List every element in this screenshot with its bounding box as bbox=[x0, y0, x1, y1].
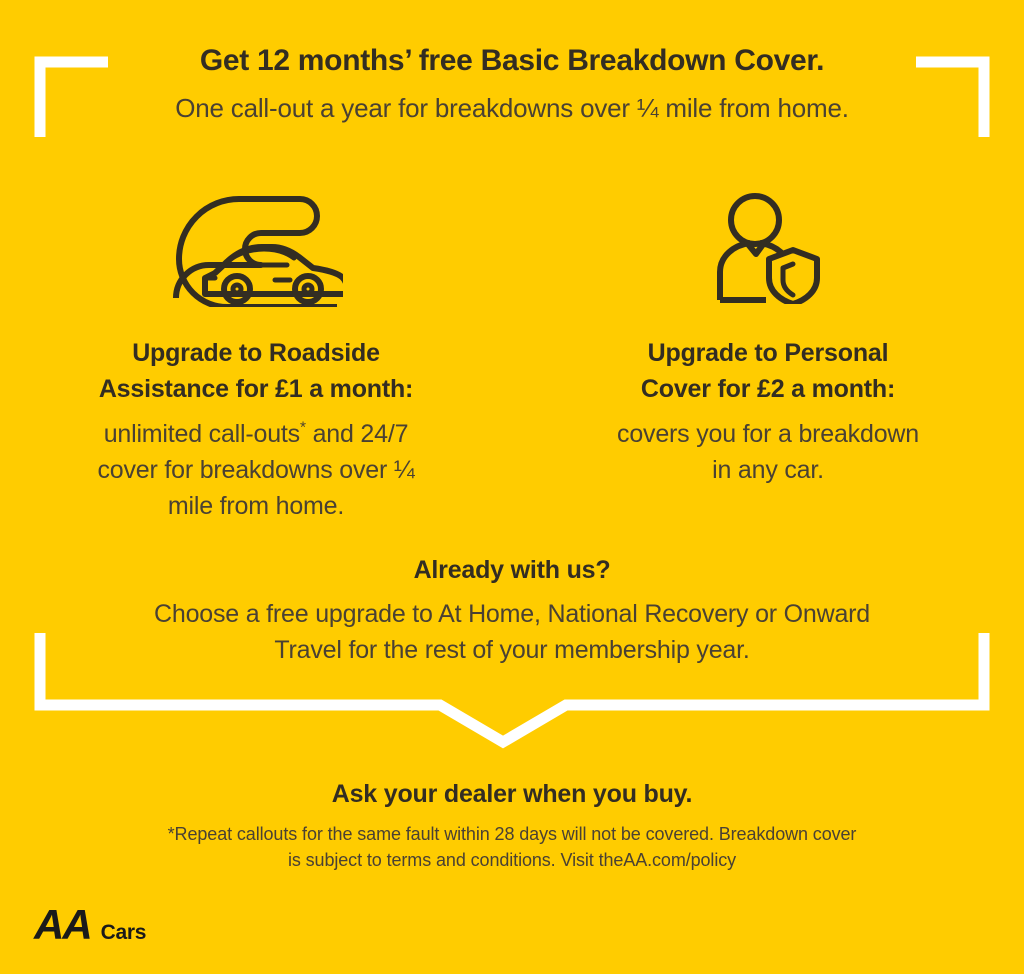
already-member-title: Already with us? bbox=[0, 556, 1024, 585]
smallprint-line2: is subject to terms and conditions. Visi… bbox=[288, 850, 736, 870]
upgrade-roadside-title: Upgrade to Roadside Assistance for £1 a … bbox=[40, 336, 472, 407]
upgrade-personal-title: Upgrade to Personal Cover for £2 a month… bbox=[552, 336, 984, 407]
upgrade-columns: Upgrade to Roadside Assistance for £1 a … bbox=[0, 185, 1024, 524]
aa-logo-mark: AA bbox=[34, 906, 91, 945]
smallprint-text: *Repeat callouts for the same fault with… bbox=[0, 821, 1024, 873]
aa-cars-logo: AA Cars bbox=[34, 906, 146, 945]
footer-block: Ask your dealer when you buy. *Repeat ca… bbox=[0, 780, 1024, 873]
upgrade-roadside-body-line1-rest: and 24/7 bbox=[306, 420, 408, 448]
page-subtitle: One call-out a year for breakdowns over … bbox=[0, 92, 1024, 126]
upgrade-roadside-body-line1: unlimited call-outs bbox=[104, 420, 300, 448]
upgrade-roadside-title-line1: Upgrade to Roadside bbox=[132, 339, 380, 367]
header-block: Get 12 months’ free Basic Breakdown Cove… bbox=[0, 42, 1024, 126]
upgrade-personal-body-line1: covers you for a breakdown bbox=[617, 420, 919, 448]
smallprint-line1: *Repeat callouts for the same fault with… bbox=[168, 824, 857, 844]
upgrade-roadside-body-line2: cover for breakdowns over ¼ bbox=[98, 456, 415, 484]
upgrade-personal-body-line2: in any car. bbox=[712, 456, 824, 484]
promo-poster: Get 12 months’ free Basic Breakdown Cove… bbox=[0, 0, 1024, 974]
already-member-line1: Choose a free upgrade to At Home, Nation… bbox=[154, 600, 870, 628]
already-member-block: Already with us? Choose a free upgrade t… bbox=[0, 556, 1024, 668]
upgrade-roadside-title-line2: Assistance for £1 a month: bbox=[99, 375, 413, 403]
upgrade-roadside-body: unlimited call-outs* and 24/7 cover for … bbox=[40, 417, 472, 524]
upgrade-card-personal: Upgrade to Personal Cover for £2 a month… bbox=[512, 185, 1024, 489]
aa-logo-word: Cars bbox=[101, 922, 147, 943]
call-to-action-text: Ask your dealer when you buy. bbox=[0, 780, 1024, 809]
upgrade-card-roadside: Upgrade to Roadside Assistance for £1 a … bbox=[0, 185, 512, 524]
person-shield-icon bbox=[552, 185, 984, 310]
upgrade-personal-title-line1: Upgrade to Personal bbox=[648, 339, 889, 367]
upgrade-personal-body: covers you for a breakdown in any car. bbox=[552, 417, 984, 489]
car-winding-road-icon bbox=[40, 185, 472, 310]
page-title: Get 12 months’ free Basic Breakdown Cove… bbox=[0, 42, 1024, 80]
already-member-line2: Travel for the rest of your membership y… bbox=[274, 636, 749, 664]
upgrade-personal-title-line2: Cover for £2 a month: bbox=[641, 375, 895, 403]
upgrade-roadside-body-line3: mile from home. bbox=[168, 492, 344, 520]
already-member-body: Choose a free upgrade to At Home, Nation… bbox=[0, 597, 1024, 668]
